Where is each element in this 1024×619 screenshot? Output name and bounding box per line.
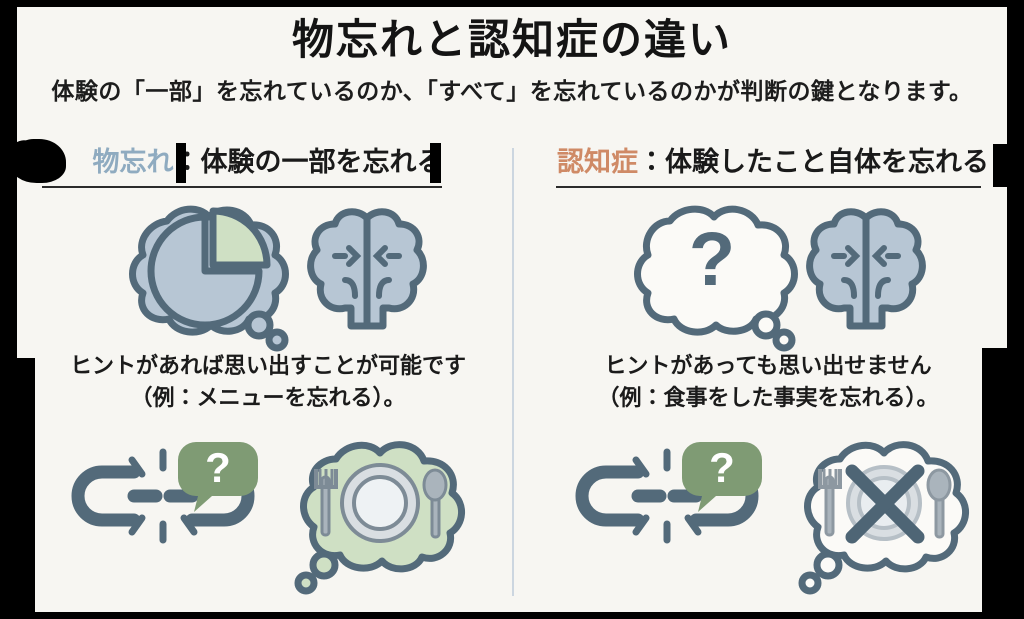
svg-text:?: ? (689, 217, 735, 302)
description-memory-loss: ヒントがあれば思い出すことが可能です （例：メニューを忘れる）。 (0, 350, 512, 414)
column-keyword-dementia: 認知症 (557, 147, 638, 177)
svg-text:?: ? (709, 444, 735, 491)
description-memory-loss-line1: ヒントがあれば思い出すことが可能です (24, 350, 512, 382)
column-header-rest-memory-loss: ：体験の一部を忘れる (174, 147, 444, 177)
illustration-row-memory-bottom: ? (0, 428, 512, 598)
svg-text:?: ? (205, 444, 231, 491)
broken-chain-question-icon: ? (68, 438, 258, 588)
illustration-row-dementia-bottom: ? (512, 428, 1024, 598)
mask-header-right (993, 144, 1024, 187)
thought-cloud-meal-green-icon (282, 433, 466, 593)
mask-header-caret2 (430, 143, 441, 183)
mask-left-edge (0, 0, 17, 619)
column-header-rest-dementia: ：体験したこと自体を忘れる (638, 147, 989, 177)
illustration-row-memory-top (0, 194, 512, 346)
header-underline-dementia (556, 186, 981, 188)
column-keyword-memory-loss: 物忘れ (93, 147, 174, 177)
header-underline-memory-loss (42, 186, 442, 188)
thought-cloud-question-icon: ? (614, 197, 800, 343)
column-header-dementia: 認知症：体験したこと自体を忘れる (512, 140, 1024, 179)
description-dementia-line1: ヒントがあっても思い出せません (512, 350, 1024, 382)
mask-bottom-edge (0, 612, 1024, 619)
mask-header-caret (176, 143, 186, 183)
slide-canvas: 物忘れと認知症の違い 体験の「一部」を忘れているのか、「すべて」を忘れているのか… (0, 0, 1024, 619)
thought-cloud-pie-chart-icon (105, 197, 301, 343)
mask-left-bar (16, 358, 35, 612)
illustration-row-dementia-top: ? (512, 194, 1024, 346)
description-memory-loss-line2: （例：メニューを忘れる）。 (24, 382, 512, 414)
thought-cloud-meal-crossed-out-icon (786, 433, 970, 593)
broken-chain-question-icon: ? (572, 438, 762, 588)
column-dementia: 認知症：体験したこと自体を忘れる ? (512, 132, 1024, 612)
brain-icon (305, 202, 429, 338)
column-memory-loss: 物忘れ：体験の一部を忘れる (0, 132, 512, 612)
mask-right-block (982, 348, 1024, 612)
description-dementia: ヒントがあっても思い出せません （例：食事をした事実を忘れる）。 (512, 350, 1024, 414)
description-dementia-line2: （例：食事をした事実を忘れる）。 (512, 382, 1024, 414)
page-subtitle: 体験の「一部」を忘れているのか、「すべて」を忘れているのかが判断の鍵となります。 (0, 72, 1024, 106)
mask-top-edge (0, 0, 1024, 7)
page-title: 物忘れと認知症の違い (0, 6, 1024, 67)
brain-icon (804, 202, 928, 338)
